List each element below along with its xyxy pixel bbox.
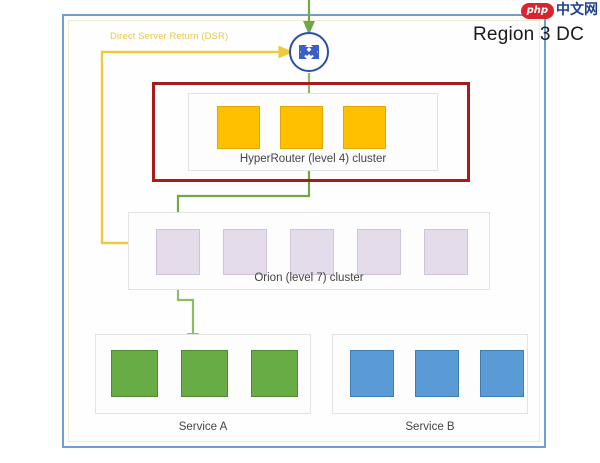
watermark-badge: php — [521, 3, 554, 19]
orion-node-5[interactable] — [424, 229, 468, 275]
service-a-panel — [95, 334, 311, 414]
service-b-panel — [332, 334, 528, 414]
diagram-canvas: Region 3 DC Direct Server Return (DSR) — [0, 0, 600, 463]
orion-cluster-panel: Orion (level 7) cluster — [128, 212, 490, 290]
hyperrouter-cluster-caption: HyperRouter (level 4) cluster — [189, 153, 437, 165]
service-b-node-3[interactable] — [480, 350, 524, 397]
orion-node-3[interactable] — [290, 229, 334, 275]
service-a-node-1[interactable] — [111, 350, 158, 397]
service-a-node-2[interactable] — [181, 350, 228, 397]
orion-node-4[interactable] — [357, 229, 401, 275]
service-b-node-2[interactable] — [415, 350, 459, 397]
hyperrouter-node-2[interactable] — [280, 106, 323, 149]
region-title: Region 3 DC — [473, 24, 584, 46]
dsr-label: Direct Server Return (DSR) — [110, 31, 228, 42]
hyperrouter-node-1[interactable] — [217, 106, 260, 149]
service-b-caption: Service B — [332, 421, 528, 433]
hyperrouter-cluster-panel: HyperRouter (level 4) cluster — [188, 93, 438, 171]
watermark: php 中文网 — [521, 1, 598, 20]
service-a-node-3[interactable] — [251, 350, 298, 397]
orion-cluster-caption: Orion (level 7) cluster — [129, 272, 489, 284]
service-a-caption: Service A — [95, 421, 311, 433]
orion-node-1[interactable] — [156, 229, 200, 275]
watermark-text: 中文网 — [556, 3, 598, 18]
router-icon[interactable] — [288, 31, 330, 73]
hyperrouter-node-3[interactable] — [343, 106, 386, 149]
service-b-node-1[interactable] — [350, 350, 394, 397]
orion-node-2[interactable] — [223, 229, 267, 275]
